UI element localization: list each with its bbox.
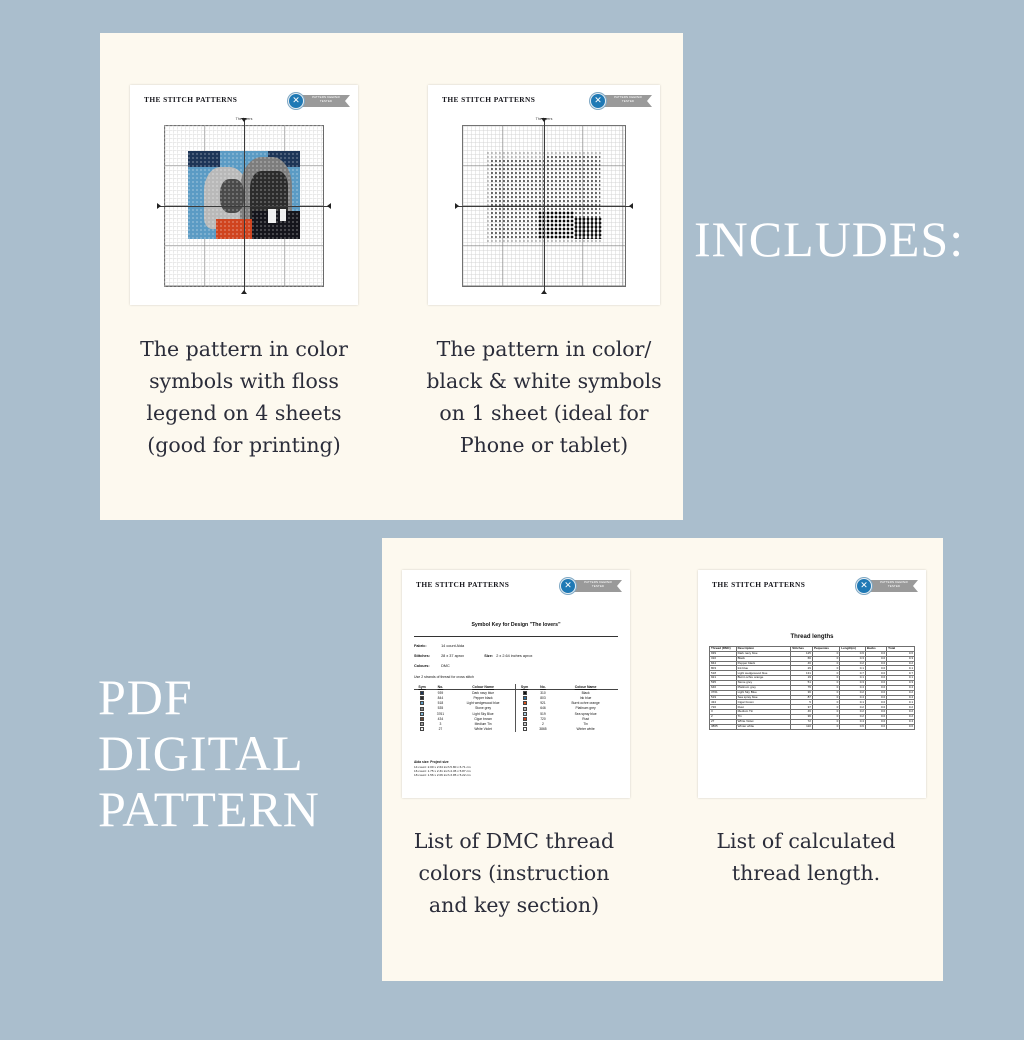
pattern-keeper-badge: PATTERN KEEPER TESTED [590, 93, 652, 109]
pdf-line-3: PATTERN [98, 784, 320, 834]
tl-backs: 0.0 [865, 724, 886, 729]
caption-thread-length: List of calculated thread length. [680, 826, 932, 890]
key-sheet-title: Symbol Key for Design "The lovers" [402, 622, 630, 628]
tl-table-row: 3865Winter white11000.60.00.6 [710, 724, 915, 729]
key-table-body: 939Dark navy blue310Black844Pepper black… [414, 690, 618, 732]
key-swatch-right [516, 727, 533, 732]
pdf-digital-pattern-heading: PDF DIGITAL PATTERN [98, 672, 320, 840]
x-seal-icon [590, 93, 606, 109]
thread-lengths-table: Thread (DMC) Description Stitches Pequen… [709, 646, 915, 730]
chart-arrow-top-icon [241, 118, 247, 122]
badge-line2: TESTED [304, 99, 348, 104]
sheet-header: THE STITCH PATTERNS PATTERN KEEPER TESTE… [402, 570, 630, 600]
caption-dmc-list: List of DMC thread colors (instruction a… [398, 826, 630, 922]
includes-heading: INCLUDES: [694, 214, 964, 264]
tl-table-body: 939Dark navy blue12500.60.00.6310Black66… [710, 651, 915, 729]
size-label: Size: [484, 654, 493, 658]
pattern-keeper-badge: PATTERN KEEPER TESTED [288, 93, 350, 109]
chart-center-horizontal [456, 206, 632, 207]
mockup-sheet-dmc-key[interactable]: THE STITCH PATTERNS PATTERN KEEPER TESTE… [402, 570, 630, 798]
chart-center-horizontal [158, 206, 330, 207]
bw-area-dark-right [574, 217, 602, 239]
sheet-header: THE STITCH PATTERNS PATTERN KEEPER TESTE… [698, 570, 926, 600]
strands-note: Use 2 strands of thread for cross stitch [414, 675, 474, 679]
chart-arrow-left-icon [455, 203, 459, 209]
poster-canvas: THE STITCH PATTERNS PATTERN KEEPER TESTE… [0, 0, 1024, 1040]
stitches-label: Stitches: [414, 654, 440, 658]
fabric-row: Fabric: 14 count Aida [414, 644, 464, 648]
caption-color-symbols: The pattern in color symbols with floss … [128, 334, 360, 462]
tl-description: Winter white [736, 724, 791, 729]
key-name-right: Winter white [553, 727, 618, 732]
aida-size-block: Aida size: Project size 14 count: 2.00 x… [414, 760, 471, 777]
size-value: 2 x 2.64 inches aprox [496, 654, 532, 658]
tl-stitches: 110 [791, 724, 813, 729]
chart-arrow-bottom-icon [241, 290, 247, 294]
colours-label: Colours: [414, 664, 440, 668]
tl-thread: 3865 [710, 724, 737, 729]
brand-title: THE STITCH PATTERNS [144, 95, 237, 104]
badge-line2: TESTED [606, 99, 650, 104]
key-table-row: 27White Violet3865Winter white [414, 727, 618, 732]
symbol-key-table: Sym No. Colour Name Sym No. Colour Name … [414, 684, 618, 732]
stitches-row: Stitches: 28 x 37 aprox Size: 2 x 2.64 i… [414, 654, 532, 658]
fabric-label: Fabric: [414, 644, 440, 648]
tl-pequenies: 0 [812, 724, 839, 729]
brand-title: THE STITCH PATTERNS [712, 580, 805, 589]
x-seal-icon [288, 93, 304, 109]
mockup-sheet-bw-symbols[interactable]: THE STITCH PATTERNS PATTERN KEEPER TESTE… [428, 85, 660, 305]
pdf-line-2: DIGITAL [98, 728, 320, 778]
key-number-right: 3865 [533, 727, 554, 732]
colours-value: DMC [441, 664, 450, 668]
thread-lengths-title: Thread lengths [698, 634, 926, 640]
mockup-sheet-color-symbols[interactable]: THE STITCH PATTERNS PATTERN KEEPER TESTE… [130, 85, 358, 305]
pattern-keeper-badge: PATTERN KEEPER TESTED [560, 578, 622, 594]
chart-arrow-top-icon [541, 118, 547, 122]
pattern-keeper-badge: PATTERN KEEPER TESTED [856, 578, 918, 594]
aida-line-3: 18 count: 1.56 x 2.06 inch 3.95 x 5.22 c… [414, 773, 471, 777]
chart-arrow-left-icon [157, 203, 161, 209]
fabric-value: 14 count Aida [441, 644, 464, 648]
color-symbol-chart: The lovers [164, 125, 324, 287]
chart-arrow-right-icon [629, 203, 633, 209]
tl-length: 0.6 [840, 724, 866, 729]
colours-row: Colours: DMC [414, 664, 450, 668]
key-number-left: 27 [430, 727, 451, 732]
brand-title: THE STITCH PATTERNS [416, 580, 509, 589]
chart-arrow-bottom-icon [541, 290, 547, 294]
tl-total: 0.6 [887, 724, 915, 729]
aida-heading: Aida size: Project size [414, 760, 449, 764]
caption-bw-symbols: The pattern in color/ black & white symb… [418, 334, 670, 462]
x-seal-icon [560, 578, 576, 594]
badge-line2: TESTED [872, 584, 916, 589]
key-divider [414, 636, 618, 637]
stitches-value: 28 x 37 aprox [441, 654, 464, 658]
bw-symbol-chart: The lovers [462, 125, 626, 287]
key-swatch-left [414, 727, 430, 732]
badge-line2: TESTED [576, 584, 620, 589]
sheet-header: THE STITCH PATTERNS PATTERN KEEPER TESTE… [130, 85, 358, 115]
key-name-left: White Violet [451, 727, 516, 732]
mockup-sheet-thread-lengths[interactable]: THE STITCH PATTERNS PATTERN KEEPER TESTE… [698, 570, 926, 798]
x-seal-icon [856, 578, 872, 594]
sheet-header: THE STITCH PATTERNS PATTERN KEEPER TESTE… [428, 85, 660, 115]
brand-title: THE STITCH PATTERNS [442, 95, 535, 104]
pdf-line-1: PDF [98, 672, 320, 722]
chart-arrow-right-icon [327, 203, 331, 209]
